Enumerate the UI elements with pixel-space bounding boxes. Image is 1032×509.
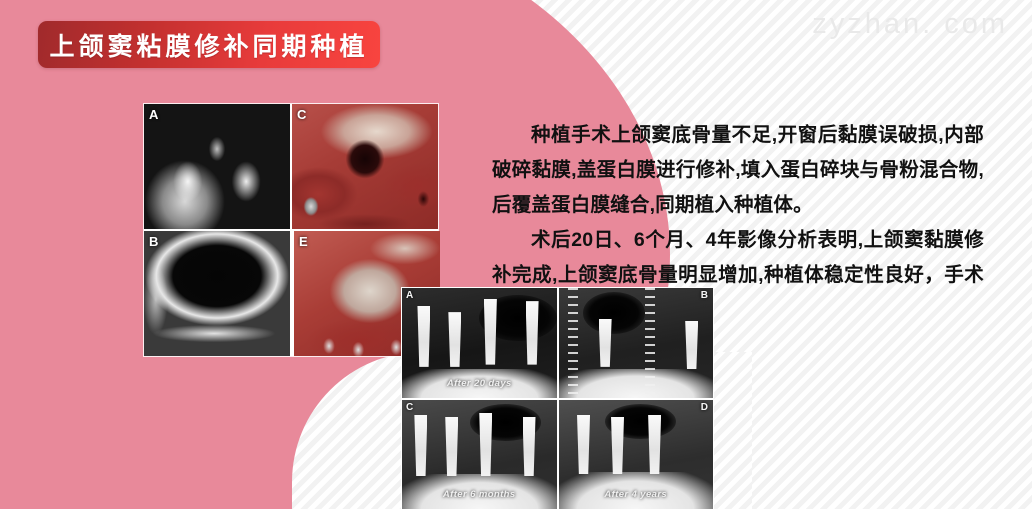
xray-panel-c: C After 6 months — [402, 400, 557, 509]
implant-post — [484, 299, 497, 365]
slide-canvas: zyzhan. com 上颌窦粘膜修补同期种植 种植手术上颌窦底骨量不足,开窗后… — [0, 0, 1032, 509]
photo-panel-b-ct: B — [144, 231, 290, 356]
implant-post — [599, 319, 612, 367]
xray-letter-a: A — [406, 290, 413, 301]
radiograph-ruler — [645, 288, 655, 398]
implant-post — [611, 417, 624, 474]
implant-post — [448, 312, 461, 367]
xray-label-a: After 20 days — [402, 378, 557, 389]
panel-letter-e: E — [299, 234, 308, 249]
implant-post — [445, 417, 458, 476]
xray-label-d: After 4 years — [559, 489, 714, 500]
radiograph-ruler — [568, 288, 578, 398]
xray-panel-a: A After 20 days — [402, 288, 557, 398]
implant-post — [523, 417, 536, 476]
implant-post — [648, 415, 661, 474]
panel-letter-b: B — [149, 234, 158, 249]
panel-letter-c: C — [297, 107, 306, 122]
xray-letter-c: C — [406, 402, 413, 413]
panel-letter-a: A — [149, 107, 158, 122]
title-banner: 上颌窦粘膜修补同期种植 — [38, 21, 380, 68]
implant-post — [526, 301, 539, 365]
body-paragraph-1: 种植手术上颌窦底骨量不足,开窗后黏膜误破损,内部破碎黏膜,盖蛋白膜进行修补,填入… — [492, 118, 984, 223]
xray-letter-b: B — [701, 290, 708, 301]
xray-panel-d: D After 4 years — [559, 400, 714, 509]
implant-post — [414, 415, 427, 476]
implant-post — [417, 306, 430, 367]
sinus-shadow — [583, 292, 645, 334]
implant-post — [479, 413, 492, 477]
xray-letter-d: D — [701, 402, 708, 413]
radiograph-grid: A After 20 days B C After 6 — [402, 288, 713, 509]
photo-panel-a-ct: A — [144, 104, 290, 229]
site-watermark: zyzhan. com — [812, 8, 1008, 41]
implant-post — [577, 415, 590, 474]
slide-title: 上颌窦粘膜修补同期种植 — [49, 27, 368, 63]
photo-panel-c-surgical: C — [292, 104, 438, 229]
implant-post — [685, 321, 698, 369]
bone-floor — [559, 369, 714, 397]
xray-label-c: After 6 months — [402, 489, 557, 500]
xray-panel-b: B — [559, 288, 714, 398]
